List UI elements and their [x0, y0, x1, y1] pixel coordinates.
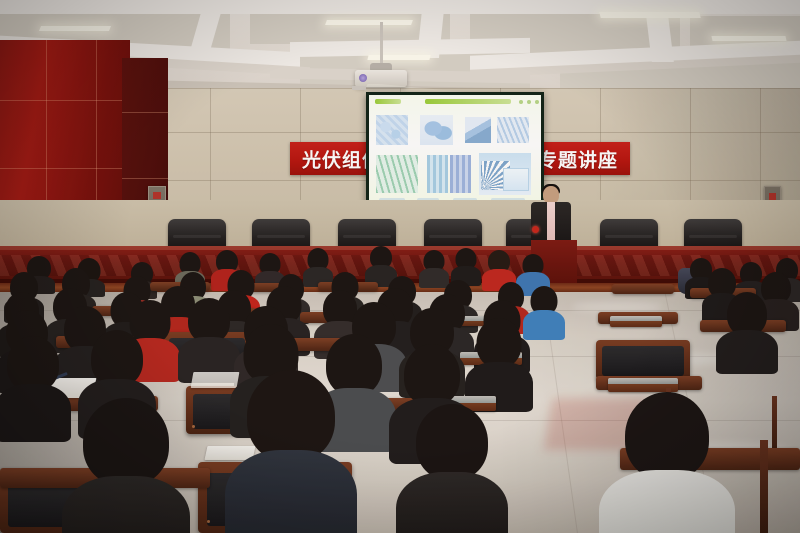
slide-thumb-cell-panel-violet — [450, 155, 471, 193]
screen-roller-case — [352, 86, 366, 90]
audience-person-foreground — [72, 398, 180, 533]
audience-person-foreground — [612, 392, 722, 533]
stage-chair — [600, 219, 658, 249]
stage-chair — [338, 219, 396, 249]
slide-thumb-solar-farm — [376, 155, 418, 193]
audience-person — [182, 298, 236, 376]
slide-thumb-silicon-crystal — [376, 115, 408, 145]
slide-thumb-module-assembly — [479, 153, 531, 195]
projector-lens-icon — [359, 74, 367, 82]
stage-chair — [424, 219, 482, 249]
audience-person — [420, 250, 448, 284]
audience-person — [452, 248, 480, 282]
stage-chair — [168, 219, 226, 249]
projector-mount-pole — [380, 22, 383, 67]
audience-person-foreground — [406, 404, 498, 533]
notebook — [191, 372, 240, 388]
presenter — [530, 186, 572, 248]
audience-person — [484, 250, 514, 286]
slide-thumb-wafer-stack — [465, 117, 491, 143]
slide-thumb-silicon-wafer — [420, 115, 453, 145]
audience-person — [0, 336, 66, 436]
stage-chair — [252, 219, 310, 249]
lecture-hall-photo: 光伏组件 专题讲座 — [0, 0, 800, 533]
stage-chair — [684, 219, 742, 249]
slide-thumb-cut-sheets — [497, 117, 529, 143]
presenter-badge-icon — [532, 226, 539, 233]
audience-person — [720, 292, 774, 366]
audience-person — [526, 286, 562, 334]
slide-thumb-cell-panel-blue — [427, 155, 448, 193]
auditorium-chair — [596, 340, 690, 380]
audience-person-foreground — [236, 370, 346, 533]
banner-text-right: 专题讲座 — [538, 145, 618, 172]
audience-person — [470, 318, 528, 406]
